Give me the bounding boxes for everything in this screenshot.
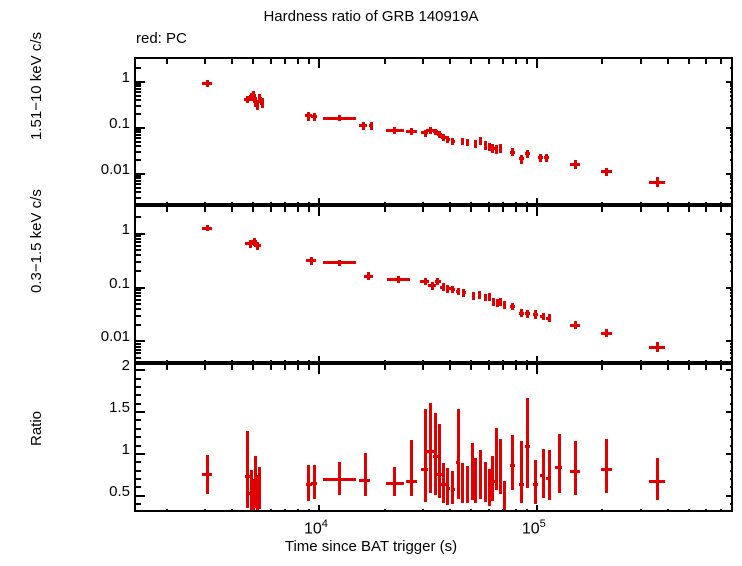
axis-tick xyxy=(136,261,141,263)
axis-tick xyxy=(449,360,451,361)
axis-tick xyxy=(136,216,141,218)
axis-tick xyxy=(136,241,141,243)
axis-tick xyxy=(601,365,603,370)
axis-tick xyxy=(166,202,168,203)
axis-tick xyxy=(730,191,731,193)
axis-tick xyxy=(470,207,472,212)
axis-tick xyxy=(136,151,141,153)
axis-tick xyxy=(726,340,731,342)
axis-tick xyxy=(136,173,145,175)
y-tick-label: 0.1 xyxy=(70,115,130,132)
axis-tick xyxy=(136,411,145,413)
axis-tick xyxy=(384,360,386,361)
axis-tick xyxy=(422,207,424,212)
axis-tick xyxy=(449,509,451,510)
error-bar-y xyxy=(429,403,432,493)
axis-tick xyxy=(726,173,731,175)
error-bar-y xyxy=(446,285,449,293)
error-bar-y xyxy=(307,112,310,121)
axis-tick xyxy=(308,59,310,64)
axis-tick xyxy=(705,207,707,212)
axis-tick xyxy=(730,292,731,294)
axis-tick xyxy=(502,365,504,370)
axis-tick xyxy=(730,241,731,243)
error-bar-y xyxy=(446,468,449,505)
axis-tick xyxy=(730,197,731,199)
axis-tick xyxy=(136,249,141,251)
error-bar-y xyxy=(499,144,502,153)
axis-tick xyxy=(166,59,168,64)
axis-tick xyxy=(136,235,141,237)
axis-tick xyxy=(730,249,731,251)
axis-tick xyxy=(601,202,603,203)
error-bar-y xyxy=(206,225,209,231)
axis-tick xyxy=(231,207,233,212)
error-bar-y xyxy=(410,128,413,135)
y-axis-label-mid: 0.3−1.5 keV c/s xyxy=(28,189,45,293)
error-bar-y xyxy=(246,431,249,508)
axis-tick xyxy=(470,59,472,64)
error-bar-y xyxy=(436,278,439,285)
error-bar-y xyxy=(466,139,469,146)
axis-tick xyxy=(502,360,504,361)
axis-tick xyxy=(231,59,233,64)
axis-tick xyxy=(515,59,517,64)
axis-tick xyxy=(730,303,731,305)
axis-tick xyxy=(730,352,731,354)
axis-tick xyxy=(730,134,731,136)
axis-tick xyxy=(136,113,141,115)
error-bar-y xyxy=(338,462,341,495)
axis-tick xyxy=(726,453,731,455)
axis-tick xyxy=(384,365,386,370)
error-bar-y xyxy=(457,288,460,295)
error-bar-y xyxy=(491,144,494,153)
axis-tick xyxy=(204,207,206,212)
axis-tick xyxy=(136,303,141,305)
axis-tick xyxy=(136,357,141,359)
axis-tick xyxy=(270,365,272,370)
axis-tick xyxy=(688,59,690,64)
axis-tick xyxy=(667,365,669,370)
axis-tick xyxy=(422,59,424,64)
axis-tick xyxy=(730,95,731,97)
error-bar-y xyxy=(520,155,523,164)
y-tick-label: 1 xyxy=(70,221,130,238)
error-bar-y xyxy=(534,310,537,319)
axis-tick xyxy=(730,83,731,85)
y-tick-label: 2 xyxy=(70,357,130,374)
axis-tick xyxy=(136,180,141,182)
y-tick-label: 1.5 xyxy=(70,399,130,416)
error-bar-y xyxy=(542,313,545,320)
axis-tick xyxy=(730,428,731,430)
axis-tick xyxy=(308,202,310,203)
axis-tick xyxy=(136,187,141,189)
axis-tick xyxy=(730,378,731,380)
plot-area-ratio xyxy=(136,365,731,510)
axis-tick xyxy=(166,509,168,510)
error-bar-y xyxy=(462,289,465,297)
axis-tick xyxy=(318,207,320,216)
axis-tick xyxy=(204,509,206,510)
error-bar-y xyxy=(258,467,261,509)
error-bar-y xyxy=(261,98,264,108)
axis-tick xyxy=(730,187,731,189)
axis-tick xyxy=(720,509,722,510)
error-bar-y xyxy=(362,122,365,130)
error-bar-y xyxy=(539,154,542,162)
y-axis-label-bottom: Ratio xyxy=(28,411,45,446)
error-bar-y xyxy=(542,449,545,498)
axis-tick xyxy=(730,394,731,396)
error-bar-y xyxy=(495,428,498,490)
error-bar-y xyxy=(451,471,454,504)
error-bar-y xyxy=(313,465,316,499)
axis-tick xyxy=(730,308,731,310)
axis-tick xyxy=(730,486,731,488)
axis-tick xyxy=(136,137,141,139)
x-tick-label: 105 xyxy=(512,518,556,538)
axis-tick xyxy=(726,411,731,413)
axis-tick xyxy=(730,67,731,69)
axis-tick xyxy=(318,356,320,361)
error-bar-y xyxy=(397,276,400,283)
error-bar-y xyxy=(478,291,481,299)
error-bar-y xyxy=(574,321,577,329)
axis-tick xyxy=(308,365,310,370)
axis-tick xyxy=(252,59,254,64)
page-title: Hardness ratio of GRB 140919A xyxy=(0,8,742,25)
error-bar-y xyxy=(511,148,514,156)
axis-tick xyxy=(526,360,528,361)
axis-tick xyxy=(730,346,731,348)
axis-tick xyxy=(488,207,490,212)
axis-tick xyxy=(536,207,538,216)
axis-tick xyxy=(536,365,538,374)
axis-tick xyxy=(136,453,145,455)
axis-tick xyxy=(640,202,642,203)
plot-area-soft-band xyxy=(136,207,731,361)
axis-tick xyxy=(536,505,538,510)
axis-tick xyxy=(136,478,141,480)
hardness-ratio-figure: Hardness ratio of GRB 140919A red: PC 1.… xyxy=(0,0,742,566)
axis-tick xyxy=(730,357,731,359)
axis-tick xyxy=(136,299,141,301)
axis-tick xyxy=(384,207,386,212)
error-bar-y xyxy=(424,409,427,502)
axis-tick xyxy=(515,509,517,510)
error-bar-y xyxy=(438,424,441,498)
axis-tick xyxy=(136,131,141,133)
axis-tick xyxy=(136,238,141,240)
error-bar-y xyxy=(424,278,427,285)
axis-tick xyxy=(730,180,731,182)
axis-tick xyxy=(449,59,451,64)
axis-tick xyxy=(526,365,528,370)
axis-tick xyxy=(422,202,424,203)
axis-tick xyxy=(270,59,272,64)
axis-tick xyxy=(515,207,517,212)
error-bar-y xyxy=(393,467,396,496)
error-bar-y xyxy=(472,292,475,300)
error-bar-y xyxy=(495,145,498,154)
y-tick-label: 1 xyxy=(70,441,130,458)
axis-tick xyxy=(297,509,299,510)
error-bar-y xyxy=(431,282,434,290)
error-bar-y xyxy=(367,272,370,280)
axis-tick xyxy=(231,360,233,361)
error-bar-y xyxy=(364,453,367,496)
axis-tick xyxy=(136,83,141,85)
axis-tick xyxy=(730,343,731,345)
axis-tick xyxy=(136,378,141,380)
axis-tick xyxy=(284,59,286,64)
axis-tick xyxy=(730,238,731,240)
error-bar-y xyxy=(656,177,659,187)
axis-tick xyxy=(297,202,299,203)
axis-tick xyxy=(640,207,642,212)
axis-tick xyxy=(136,233,145,235)
axis-tick xyxy=(136,419,141,421)
axis-tick xyxy=(536,198,538,203)
axis-tick xyxy=(166,360,168,361)
axis-tick xyxy=(730,419,731,421)
axis-tick xyxy=(422,509,424,510)
error-bar-y xyxy=(338,115,341,121)
axis-tick xyxy=(384,202,386,203)
axis-tick xyxy=(720,365,722,370)
axis-tick xyxy=(136,99,141,101)
axis-tick xyxy=(318,505,320,510)
axis-tick xyxy=(136,315,141,317)
axis-tick xyxy=(515,365,517,370)
axis-tick xyxy=(136,134,141,136)
axis-tick xyxy=(231,365,233,370)
axis-tick xyxy=(136,486,141,488)
axis-tick xyxy=(730,315,731,317)
axis-tick xyxy=(136,145,141,147)
axis-tick xyxy=(601,360,603,361)
panel-hard-band xyxy=(134,57,733,205)
axis-tick xyxy=(730,177,731,179)
axis-tick xyxy=(297,360,299,361)
axis-tick xyxy=(136,445,141,447)
axis-tick xyxy=(136,403,141,405)
axis-tick xyxy=(308,509,310,510)
error-bar-y xyxy=(548,450,551,500)
axis-tick xyxy=(270,207,272,212)
axis-tick xyxy=(470,509,472,510)
axis-tick xyxy=(136,81,145,83)
axis-tick xyxy=(136,346,141,348)
axis-tick xyxy=(526,202,528,203)
axis-tick xyxy=(705,202,707,203)
error-bar-y xyxy=(442,463,445,503)
axis-tick xyxy=(449,365,451,370)
error-bar-y xyxy=(488,293,491,301)
axis-tick xyxy=(136,308,141,310)
axis-tick xyxy=(526,207,528,212)
axis-tick xyxy=(667,360,669,361)
axis-tick xyxy=(730,137,731,139)
y-tick-label: 1 xyxy=(70,69,130,86)
axis-tick xyxy=(640,360,642,361)
axis-tick xyxy=(449,202,451,203)
axis-tick xyxy=(730,445,731,447)
error-bar-y xyxy=(338,260,341,266)
y-tick-label: 0.01 xyxy=(70,161,130,178)
axis-tick xyxy=(297,59,299,64)
axis-tick xyxy=(252,360,254,361)
error-bar-y xyxy=(499,439,502,494)
axis-tick xyxy=(297,207,299,212)
axis-tick xyxy=(470,360,472,361)
axis-tick xyxy=(730,324,731,326)
axis-tick xyxy=(502,207,504,212)
axis-tick xyxy=(136,436,141,438)
axis-tick xyxy=(488,59,490,64)
axis-tick xyxy=(136,461,141,463)
axis-tick xyxy=(601,509,603,510)
axis-tick xyxy=(515,202,517,203)
axis-tick xyxy=(688,360,690,361)
axis-tick xyxy=(136,254,141,256)
error-bar-y xyxy=(484,141,487,150)
axis-tick xyxy=(726,369,731,371)
error-bar-y xyxy=(310,257,313,265)
axis-tick xyxy=(720,59,722,64)
axis-tick xyxy=(136,191,141,193)
axis-tick xyxy=(526,59,528,64)
axis-tick xyxy=(730,183,731,185)
axis-tick xyxy=(204,59,206,64)
axis-tick xyxy=(667,59,669,64)
axis-tick xyxy=(720,360,722,361)
axis-tick xyxy=(136,287,145,289)
error-bar-y xyxy=(410,440,413,496)
axis-tick xyxy=(231,202,233,203)
axis-tick xyxy=(136,386,141,388)
axis-tick xyxy=(688,207,690,212)
error-bar-y xyxy=(503,481,506,510)
axis-tick xyxy=(136,270,141,272)
error-bar-y xyxy=(558,434,561,493)
axis-tick xyxy=(284,509,286,510)
axis-tick xyxy=(136,324,141,326)
axis-tick xyxy=(667,202,669,203)
axis-tick xyxy=(730,261,731,263)
axis-tick xyxy=(449,207,451,212)
axis-tick xyxy=(730,216,731,218)
y-tick-label: 0.1 xyxy=(70,275,130,292)
error-bar-y xyxy=(484,462,487,502)
panel-soft-band xyxy=(134,205,733,363)
axis-tick xyxy=(536,356,538,361)
axis-tick xyxy=(730,436,731,438)
error-bar-y xyxy=(526,150,529,158)
axis-tick xyxy=(136,175,141,177)
axis-tick xyxy=(730,159,731,161)
axis-tick xyxy=(640,509,642,510)
y-tick-label: 0.5 xyxy=(70,483,130,500)
axis-tick xyxy=(318,59,320,68)
axis-tick xyxy=(730,461,731,463)
axis-tick xyxy=(526,509,528,510)
axis-tick xyxy=(705,365,707,370)
axis-tick xyxy=(252,365,254,370)
axis-tick xyxy=(705,59,707,64)
error-bar-y xyxy=(545,154,548,162)
axis-tick xyxy=(384,509,386,510)
error-bar-y xyxy=(206,80,209,87)
error-bar-y xyxy=(520,441,523,503)
axis-tick xyxy=(730,245,731,247)
axis-tick xyxy=(705,360,707,361)
axis-tick xyxy=(730,470,731,472)
error-bar-y xyxy=(605,168,608,176)
error-bar-y xyxy=(534,460,537,504)
axis-tick xyxy=(470,202,472,203)
axis-tick xyxy=(136,95,141,97)
axis-tick xyxy=(720,202,722,203)
axis-tick xyxy=(726,127,731,129)
axis-tick xyxy=(136,159,141,161)
axis-tick xyxy=(136,105,141,107)
axis-tick xyxy=(730,299,731,301)
axis-tick xyxy=(284,202,286,203)
axis-tick xyxy=(136,289,141,291)
axis-tick xyxy=(270,509,272,510)
error-bar-y xyxy=(520,309,523,317)
axis-tick xyxy=(284,360,286,361)
axis-tick xyxy=(720,207,722,212)
axis-tick xyxy=(231,509,233,510)
error-bar-y xyxy=(256,242,259,250)
error-bar-y xyxy=(457,409,460,499)
error-bar-y xyxy=(526,398,529,488)
axis-tick xyxy=(502,59,504,64)
axis-tick xyxy=(667,509,669,510)
axis-tick xyxy=(270,360,272,361)
error-bar-y xyxy=(492,298,495,306)
axis-tick xyxy=(136,141,141,143)
axis-tick xyxy=(252,202,254,203)
error-bar-y xyxy=(656,342,659,352)
error-bar-y xyxy=(429,127,432,134)
axis-tick xyxy=(252,207,254,212)
axis-tick xyxy=(730,503,731,505)
axis-tick xyxy=(730,85,731,87)
axis-tick xyxy=(730,105,731,107)
error-bar-y xyxy=(484,294,487,301)
axis-tick xyxy=(136,349,141,351)
axis-tick xyxy=(136,127,145,129)
error-bar-y xyxy=(393,127,396,134)
axis-tick xyxy=(536,59,538,68)
axis-tick xyxy=(488,509,490,510)
error-bar-y xyxy=(461,138,464,145)
axis-tick xyxy=(601,207,603,212)
axis-tick xyxy=(515,360,517,361)
axis-tick xyxy=(204,365,206,370)
axis-tick xyxy=(318,198,320,203)
axis-tick xyxy=(730,403,731,405)
axis-tick xyxy=(667,207,669,212)
error-bar-y xyxy=(548,314,551,322)
axis-tick xyxy=(422,365,424,370)
axis-tick xyxy=(730,478,731,480)
